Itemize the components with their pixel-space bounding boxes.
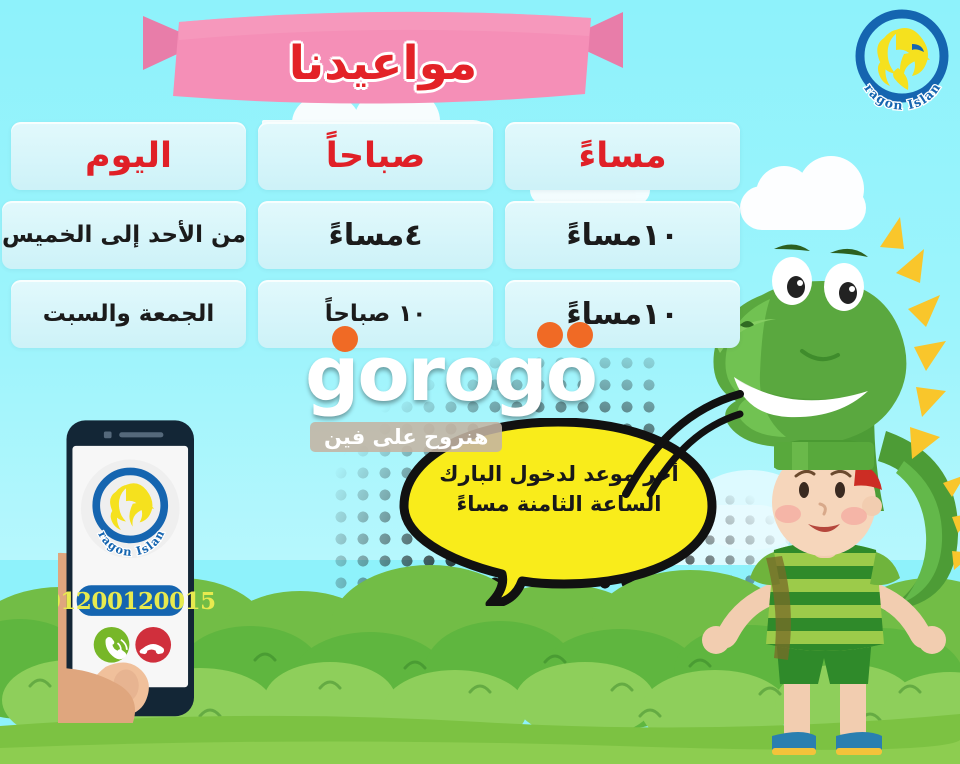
dragon-island-logo: Dragon Island [852,8,952,118]
cell-evening: ١٠مساءً [505,201,740,269]
table-header-morning: صباحاً [258,122,493,190]
cell-day: من الأحد إلى الخميس [2,201,246,269]
table-row: ١٠مساءً ٤مساءً من الأحد إلى الخميس [34,201,740,269]
table-header-day: اليوم [11,122,246,190]
table-row: ١٠مساءً ١٠ صباحاً الجمعة والسبت [34,280,740,348]
motion-swoosh-icon [620,390,750,500]
cell-evening: ١٠مساءً [505,280,740,348]
cell-day: الجمعة والسبت [11,280,246,348]
poster-stage: أخر موعد لدخول البارك الساعة الثامنة مسا… [0,0,960,764]
table-header-evening: مساءً [505,122,740,190]
phone-in-hand: Dragon Island 01200120015 [58,400,228,740]
title-banner: مواعيدنا [143,8,623,118]
schedule-table: مساءً صباحاً اليوم ١٠مساءً ٤مساءً من الأ… [34,122,740,359]
page-title: مواعيدنا [143,8,623,118]
svg-text:01200120015: 01200120015 [58,588,216,615]
cell-morning: ٤مساءً [258,201,493,269]
table-header-row: مساءً صباحاً اليوم [34,122,740,190]
cell-morning: ١٠ صباحاً [258,280,493,348]
